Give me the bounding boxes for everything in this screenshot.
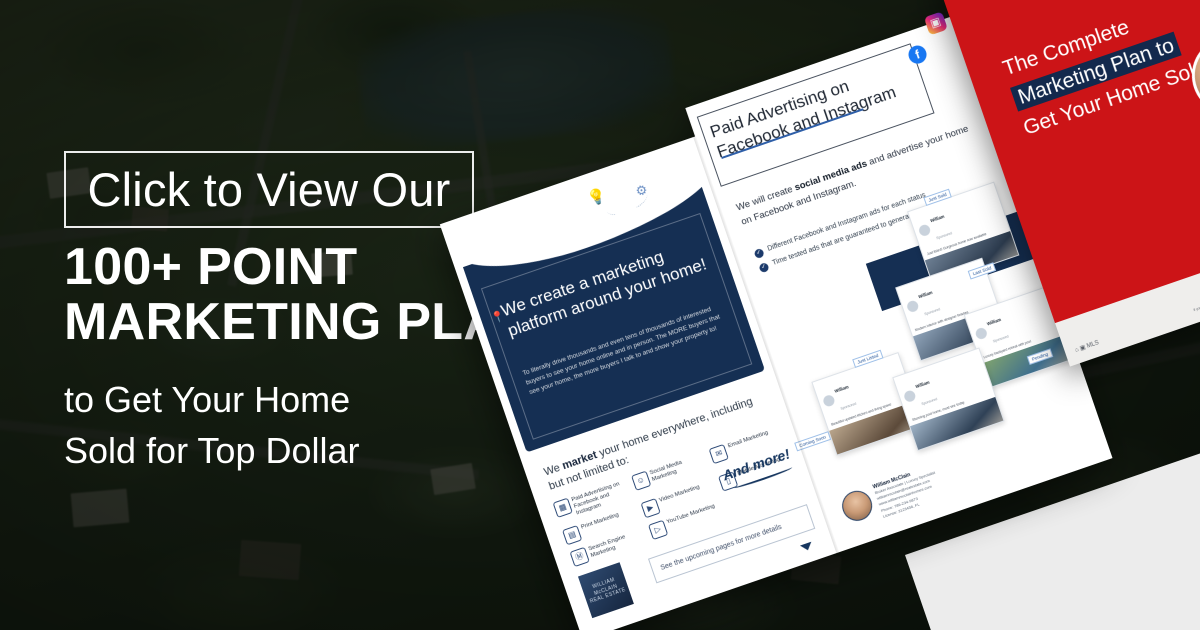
print-icon: ▤ [562, 525, 582, 545]
avatar [822, 393, 836, 407]
cover-contact-info: Phone: 786-234-9873 williammcclain@gmail… [1146, 172, 1200, 260]
avatar [917, 223, 931, 237]
card-name: William [930, 214, 945, 223]
card-sub: Sponsored [992, 334, 1009, 343]
agent-avatar [838, 487, 876, 525]
triangle-marker-icon [800, 542, 814, 553]
search-engine-icon: Ⓜ [570, 547, 590, 567]
card-sub: Sponsored [936, 231, 953, 240]
avatar [903, 389, 917, 403]
brand-logo: WILLIAM McCLAIN REAL ESTATE [578, 562, 634, 618]
card-sub: Sponsored [840, 402, 857, 411]
cover-title: The Complete Marketing Plan to Get Your … [999, 0, 1200, 144]
video-icon: ▶ [640, 498, 660, 518]
agent-details: William McClain Broker Associate | Luxur… [872, 464, 944, 520]
avatar [974, 326, 988, 340]
cta-click-to-view-box[interactable]: Click to View Our [64, 151, 474, 228]
card-name: William [915, 380, 930, 389]
youtube-icon: ▷ [648, 520, 668, 540]
email-icon: ✉ [709, 444, 729, 464]
avatar [906, 299, 920, 313]
paid-ads-icon: ▦ [553, 498, 573, 518]
cta-label: Click to View Our [88, 166, 451, 213]
check-icon: ✓ [758, 262, 769, 273]
card-sub: Sponsored [921, 397, 938, 406]
card-sub: Sponsored [924, 307, 941, 316]
card-name: William [834, 384, 849, 393]
card-name: William [986, 317, 1001, 326]
check-icon: ✓ [753, 248, 764, 259]
social-media-icon: ☺ [631, 471, 651, 491]
card-name: William [918, 290, 933, 299]
